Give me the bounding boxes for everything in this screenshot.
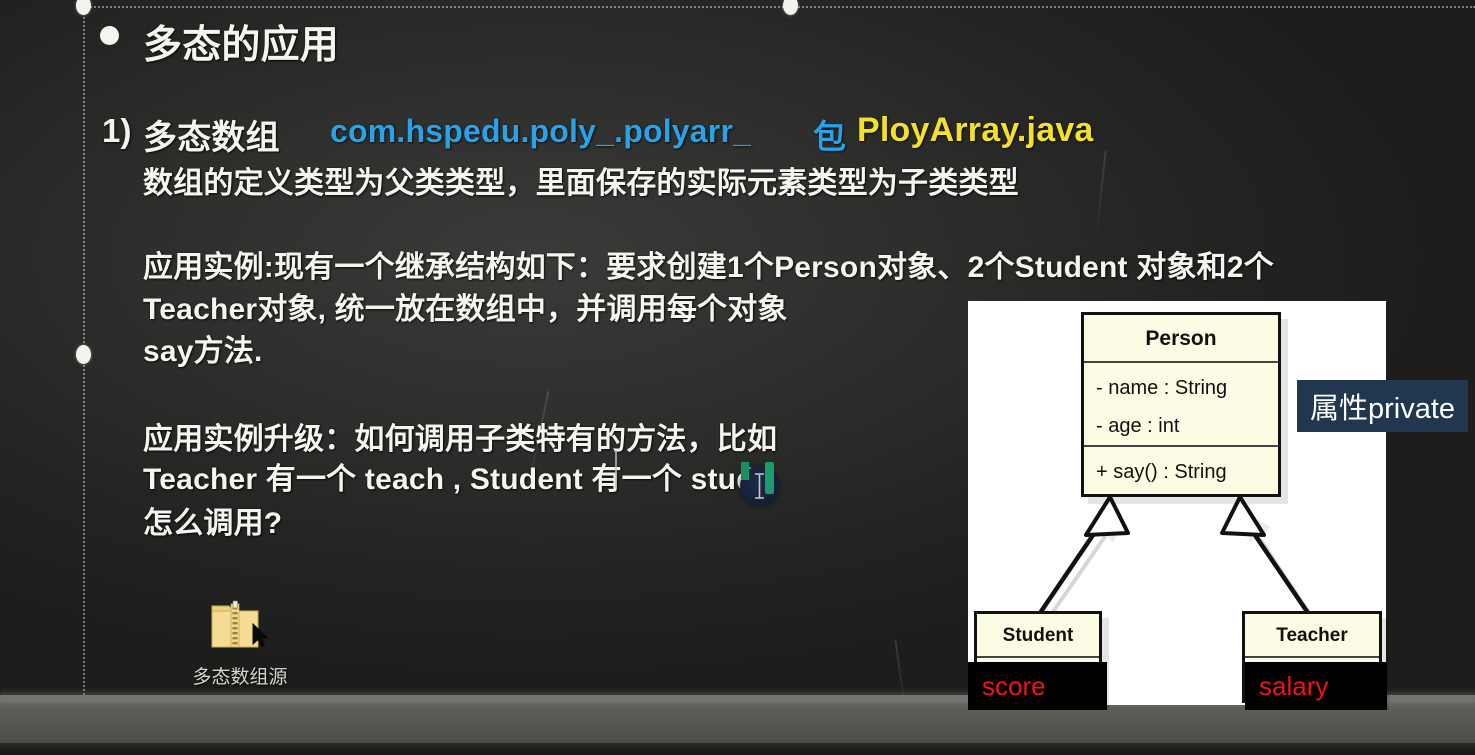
uml-method: + say() : String [1084, 453, 1278, 491]
guide-dot [76, 345, 91, 364]
uml-attribute-list: - name : String - age : int [1084, 363, 1278, 447]
paragraph-line: 应用实例升级：如何调用子类特有的方法，比如 [143, 414, 777, 458]
paragraph-line: say方法. [143, 326, 263, 370]
uml-class-name: Student [977, 614, 1099, 658]
paragraph-line: 应用实例:现有一个继承结构如下：要求创建1个Person对象、2个Student… [143, 242, 1274, 286]
uml-class-person[interactable]: Person - name : String - age : int + say… [1081, 312, 1281, 497]
package-keyword: 包 [813, 110, 846, 158]
caret-handle-icon[interactable] [765, 462, 774, 494]
text-insertion-caret [615, 450, 617, 488]
annotation-private: 属性private [1297, 380, 1468, 432]
i-beam-cursor-icon [753, 473, 766, 499]
list-item-label: 多态数组 [143, 110, 280, 159]
folder-label: 多态数组源 [150, 662, 330, 689]
arrow-cursor-icon [252, 623, 269, 649]
list-item-number: 1) [102, 112, 132, 150]
uml-method-list: + say() : String [1084, 447, 1278, 491]
uml-attribute: - name : String [1084, 369, 1278, 407]
tray-lip [0, 743, 1475, 755]
file-name: PloyArray.java [857, 111, 1094, 150]
page-title: 多态的应用 [143, 14, 339, 70]
uml-class-name: Teacher [1245, 614, 1379, 658]
guide-line-left [83, 0, 85, 755]
list-item-description: 数组的定义类型为父类类型，里面保存的实际元素类型为子类类型 [143, 158, 1019, 202]
uml-class-name: Person [1084, 315, 1278, 363]
teacher-member-highlight: salary [1245, 662, 1387, 710]
paragraph-line: Teacher 有一个 teach , Student 有一个 study [143, 454, 772, 498]
caret-handle-icon[interactable] [741, 462, 749, 480]
paragraph-line: 怎么调用? [143, 498, 282, 542]
uml-attribute: - age : int [1084, 407, 1278, 445]
guide-line-top [83, 6, 1475, 8]
paragraph-line: Teacher对象, 统一放在数组中，并调用每个对象 [143, 284, 788, 328]
chalk-streak [1095, 150, 1106, 240]
bullet-icon [100, 26, 119, 45]
guide-dot [783, 0, 798, 15]
package-name: com.hspedu.poly_.polyarr_ [330, 113, 751, 150]
student-member-highlight: score [968, 662, 1107, 710]
guide-dot [76, 0, 91, 15]
chalkboard-slide: 多态的应用 1) 多态数组 com.hspedu.poly_.polyarr_ … [0, 0, 1475, 755]
uml-diagram-panel: Person - name : String - age : int + say… [968, 301, 1386, 705]
